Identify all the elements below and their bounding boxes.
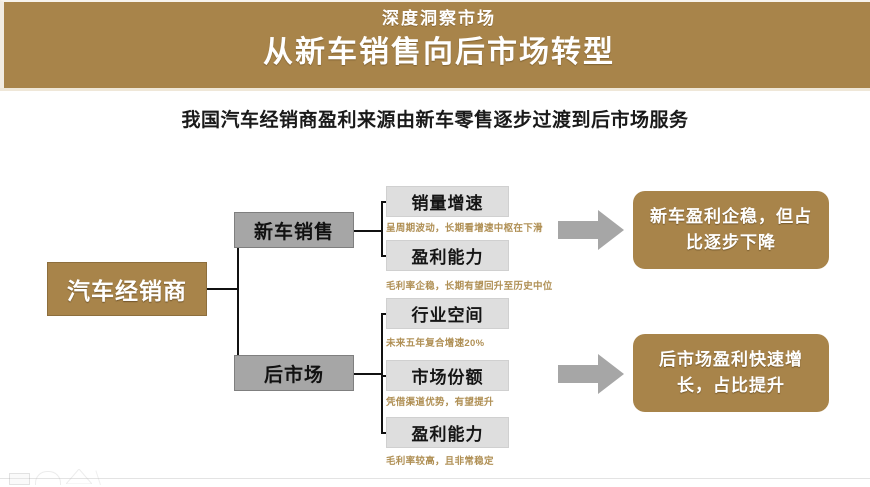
slide-header-band: 深度洞察市场 从新车销售向后市场转型	[0, 0, 870, 88]
slide-subtitle: 我国汽车经销商盈利来源由新车零售逐步过渡到后市场服务	[0, 107, 870, 135]
right-block-arrow-icon-bottom	[558, 352, 624, 396]
connector-aftermkt-out	[354, 373, 382, 375]
rectangle-shape-icon	[9, 473, 30, 485]
connector-trunk-vertical	[237, 230, 239, 374]
connector-root-stem	[207, 288, 238, 290]
item-box-sales-growth: 销量增速	[386, 186, 509, 217]
slide-canvas: 深度洞察市场 从新车销售向后市场转型 我国汽车经销商盈利来源由新车零售逐步过渡到…	[0, 0, 870, 487]
item-caption-market-share: 凭借渠道优势，有望提升	[386, 397, 566, 409]
right-block-arrow-icon-top	[558, 208, 624, 252]
item-caption-sales-growth: 呈周期波动，长期看增速中枢在下滑	[386, 223, 566, 235]
item-box-aftermarket-profitability: 盈利能力	[386, 417, 509, 448]
result-box-aftermarket: 后市场盈利快速增长，占比提升	[633, 334, 829, 412]
branch-node-aftermarket: 后市场	[234, 355, 354, 391]
connector-newcar-children-vertical	[381, 201, 383, 255]
header-underline	[0, 88, 870, 91]
page-title: 从新车销售向后市场转型	[4, 32, 870, 74]
item-box-industry-space: 行业空间	[386, 298, 509, 329]
connector-newcar-out	[354, 230, 382, 232]
diagram-root-node: 汽车经销商	[47, 262, 207, 316]
oval-shape-icon	[35, 471, 61, 485]
item-caption-aftermarket-profitability: 毛利率较高，且非常稳定	[386, 456, 566, 468]
footer-divider	[0, 478, 870, 479]
header-kicker: 深度洞察市场	[4, 7, 870, 31]
item-box-newcar-profitability: 盈利能力	[386, 240, 509, 271]
header-text-group: 深度洞察市场 从新车销售向后市场转型	[4, 2, 870, 90]
item-caption-industry-space: 未来五年复合增速20%	[386, 338, 566, 350]
item-box-market-share: 市场份额	[386, 360, 509, 391]
triangle-shape-icon	[66, 470, 92, 484]
branch-node-new-car-sales: 新车销售	[234, 212, 354, 248]
item-caption-newcar-profitability: 毛利率企稳，长期有望回升至历史中位	[386, 281, 566, 293]
connector-aftermkt-children-vertical	[381, 313, 383, 432]
result-box-new-car: 新车盈利企稳，但占比逐步下降	[633, 191, 829, 269]
